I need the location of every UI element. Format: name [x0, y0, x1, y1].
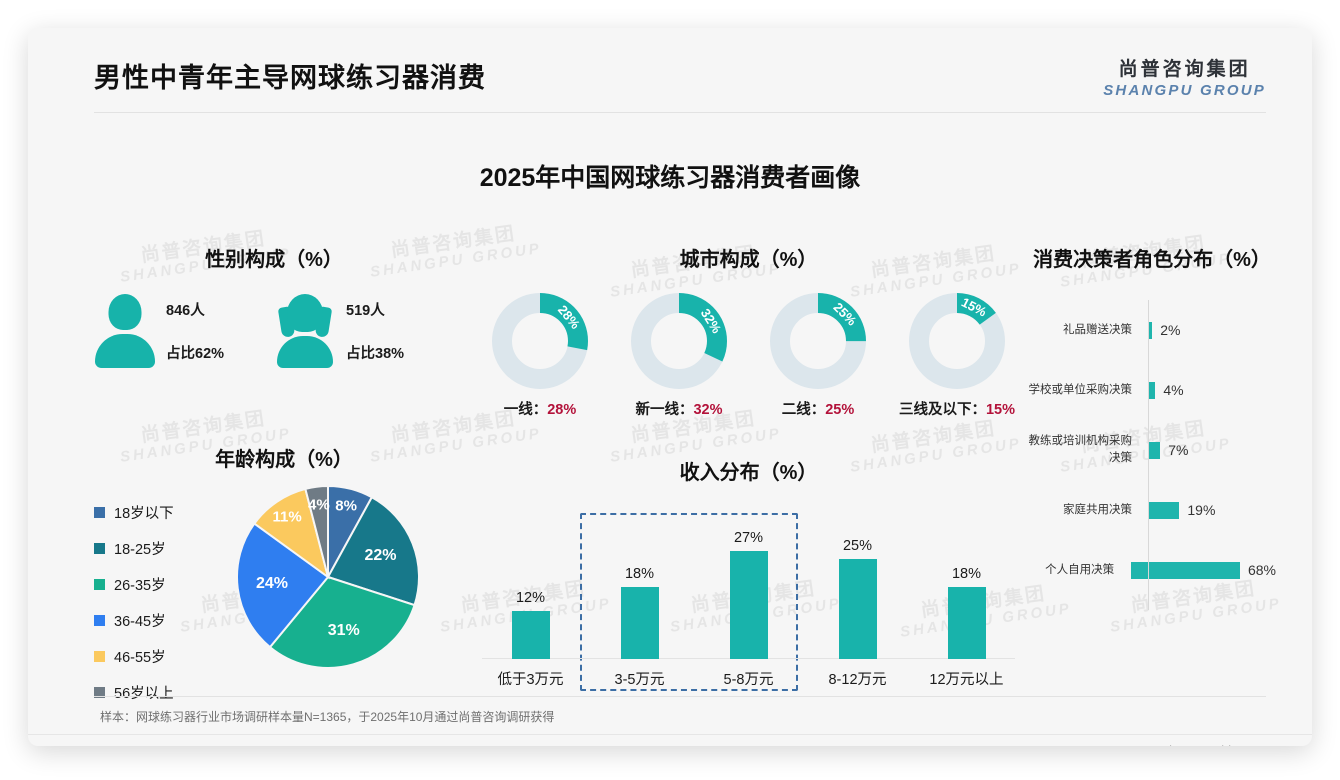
city-panel: 城市构成（%） 28%一线：28%32%新一线：32%25%二线：25%15%三… — [476, 243, 1021, 419]
gender-rows: 846人 占比62% 519人 占比38% — [94, 294, 454, 368]
income-category-labels: 低于3万元3-5万元5-8万元8-12万元12万元以上 — [476, 668, 1021, 689]
age-legend-label: 26-35岁 — [114, 574, 166, 595]
role-bar — [1149, 442, 1160, 459]
city-donut-row: 28%一线：28%32%新一线：32%25%二线：25%15%三线及以下：15% — [476, 292, 1021, 419]
age-legend-label: 56岁以上 — [114, 682, 174, 703]
city-name: 二线： — [782, 402, 826, 418]
role-label: 家庭共用决策 — [1028, 502, 1140, 519]
income-category-label: 12万元以上 — [912, 668, 1021, 689]
income-category-label: 5-8万元 — [694, 668, 803, 689]
age-panel: 年龄构成（%） 18岁以下18-25岁26-35岁36-45岁46-55岁56岁… — [94, 443, 474, 718]
age-title: 年龄构成（%） — [94, 443, 474, 472]
city-donut-item: 25%二线：25% — [754, 292, 882, 419]
female-share: 占比38% — [346, 342, 404, 363]
role-bar-row: 家庭共用决策19% — [1028, 480, 1276, 540]
role-bar — [1149, 502, 1179, 519]
gender-item-female: 519人 占比38% — [274, 294, 454, 368]
age-legend-item: 18-25岁 — [94, 538, 229, 559]
donut-gauge: 25% — [769, 292, 867, 390]
age-legend-label: 18岁以下 — [114, 502, 174, 523]
role-bar-row: 教练或培训机构采购决策7% — [1028, 420, 1276, 480]
age-pie-chart: 8%22%31%24%11%4% — [237, 486, 419, 668]
income-bar-group: 12% — [476, 527, 585, 659]
role-label: 学校或单位采购决策 — [1028, 382, 1140, 399]
income-bar-group: 18% — [585, 527, 694, 659]
legend-swatch-icon — [94, 543, 105, 554]
income-bar — [730, 551, 768, 659]
role-bar — [1149, 322, 1152, 339]
website-link[interactable]: www.shangpu-china.com — [1133, 744, 1272, 746]
age-legend-item: 36-45岁 — [94, 610, 229, 631]
income-bar — [839, 559, 877, 659]
pie-slice-label: 22% — [364, 547, 396, 565]
header: 男性中青年主导网球练习器消费 尚普咨询集团 SHANGPU GROUP — [28, 28, 1312, 116]
age-legend-item: 56岁以上 — [94, 682, 229, 703]
city-caption: 一线：28% — [476, 398, 604, 419]
income-bar-group: 27% — [694, 527, 803, 659]
gender-title: 性别构成（%） — [94, 243, 454, 272]
copyright-text: ©2025.12 SHANGPU GROUP — [68, 744, 237, 746]
city-donut-item: 28%一线：28% — [476, 292, 604, 419]
income-bar-value: 12% — [516, 590, 545, 606]
role-label: 礼品赠送决策 — [1028, 322, 1140, 339]
role-value: 2% — [1160, 322, 1180, 338]
income-bar-value: 27% — [734, 530, 763, 546]
income-bars: 12%18%27%25%18% — [476, 527, 1021, 659]
legend-swatch-icon — [94, 507, 105, 518]
chart-subtitle: 2025年中国网球练习器消费者画像 — [28, 158, 1312, 194]
age-legend-item: 18岁以下 — [94, 502, 229, 523]
header-divider — [94, 112, 1266, 113]
role-bar-row: 礼品赠送决策2% — [1028, 300, 1276, 360]
gender-item-male: 846人 占比62% — [94, 294, 274, 368]
pie-slice-label: 8% — [335, 498, 357, 515]
income-bar-value: 25% — [843, 538, 872, 554]
roles-title: 消费决策者角色分布（%） — [1028, 243, 1276, 272]
page-title: 男性中青年主导网球练习器消费 — [94, 56, 486, 95]
city-name: 三线及以下： — [899, 402, 986, 418]
income-title: 收入分布（%） — [476, 456, 1021, 485]
legend-swatch-icon — [94, 579, 105, 590]
donut-gauge: 32% — [630, 292, 728, 390]
male-person-icon — [94, 294, 156, 368]
logo-chinese-name: 尚普咨询集团 — [1103, 54, 1266, 81]
brand-logo: 尚普咨询集团 SHANGPU GROUP — [1103, 54, 1266, 99]
gender-panel: 性别构成（%） 846人 占比62% 519人 占比38% — [94, 243, 454, 368]
city-value: 25% — [825, 402, 854, 418]
city-caption: 新一线：32% — [615, 398, 743, 419]
roles-axis-line — [1148, 300, 1149, 610]
city-caption: 三线及以下：15% — [893, 398, 1021, 419]
legend-swatch-icon — [94, 651, 105, 662]
income-bar — [948, 587, 986, 659]
role-value: 19% — [1187, 502, 1215, 518]
city-value: 15% — [986, 402, 1015, 418]
infographic-card: 尚普咨询集团SHANGPU GROUP尚普咨询集团SHANGPU GROUP尚普… — [28, 28, 1312, 746]
female-count: 519人 — [346, 299, 404, 320]
city-value: 32% — [693, 402, 722, 418]
city-donut-item: 15%三线及以下：15% — [893, 292, 1021, 419]
roles-panel: 消费决策者角色分布（%） 礼品赠送决策2%学校或单位采购决策4%教练或培训机构采… — [1028, 243, 1276, 600]
male-count: 846人 — [166, 299, 224, 320]
logo-english-name: SHANGPU GROUP — [1103, 82, 1266, 99]
income-bar-value: 18% — [952, 566, 981, 582]
city-caption: 二线：25% — [754, 398, 882, 419]
city-name: 一线： — [504, 402, 548, 418]
age-legend-item: 26-35岁 — [94, 574, 229, 595]
city-name: 新一线： — [635, 402, 693, 418]
income-bar-value: 18% — [625, 566, 654, 582]
age-legend: 18岁以下18-25岁26-35岁36-45岁46-55岁56岁以上 — [94, 486, 229, 718]
female-person-icon — [274, 294, 336, 368]
role-bar-row: 学校或单位采购决策4% — [1028, 360, 1276, 420]
pie-slice-label: 4% — [308, 496, 330, 513]
income-bar-group: 18% — [912, 527, 1021, 659]
age-legend-label: 18-25岁 — [114, 538, 166, 559]
role-bar — [1149, 382, 1155, 399]
role-value: 68% — [1248, 562, 1276, 578]
note-divider — [94, 696, 1266, 697]
city-donut-item: 32%新一线：32% — [615, 292, 743, 419]
roles-rows: 礼品赠送决策2%学校或单位采购决策4%教练或培训机构采购决策7%家庭共用决策19… — [1028, 300, 1276, 600]
donut-gauge: 15% — [908, 292, 1006, 390]
role-bar-row: 个人自用决策68% — [1028, 540, 1276, 600]
footer-divider — [28, 734, 1312, 735]
income-category-label: 3-5万元 — [585, 668, 694, 689]
income-panel: 收入分布（%） 12%18%27%25%18% 低于3万元3-5万元5-8万元8… — [476, 456, 1021, 693]
role-value: 4% — [1163, 382, 1183, 398]
roles-bar-chart: 礼品赠送决策2%学校或单位采购决策4%教练或培训机构采购决策7%家庭共用决策19… — [1028, 300, 1276, 600]
male-share: 占比62% — [166, 342, 224, 363]
age-legend-label: 36-45岁 — [114, 610, 166, 631]
city-value: 28% — [547, 402, 576, 418]
role-value: 7% — [1168, 442, 1188, 458]
pie-slice-label: 11% — [272, 508, 301, 525]
income-bar — [512, 611, 550, 659]
sample-note: 样本：网球练习器行业市场调研样本量N=1365，于2025年10月通过尚普咨询调… — [100, 708, 554, 725]
city-title: 城市构成（%） — [476, 243, 1021, 272]
income-bar-chart: 12%18%27%25%18% 低于3万元3-5万元5-8万元8-12万元12万… — [476, 503, 1021, 693]
income-bar — [621, 587, 659, 659]
age-legend-label: 46-55岁 — [114, 646, 166, 667]
income-bar-group: 25% — [803, 527, 912, 659]
age-legend-item: 46-55岁 — [94, 646, 229, 667]
role-label: 个人自用决策 — [1028, 562, 1122, 579]
donut-gauge: 28% — [491, 292, 589, 390]
role-label: 教练或培训机构采购决策 — [1028, 433, 1140, 466]
legend-swatch-icon — [94, 615, 105, 626]
income-category-label: 低于3万元 — [476, 668, 585, 689]
income-category-label: 8-12万元 — [803, 668, 912, 689]
pie-slice-label: 24% — [256, 575, 288, 593]
pie-slice-label: 31% — [328, 622, 360, 640]
